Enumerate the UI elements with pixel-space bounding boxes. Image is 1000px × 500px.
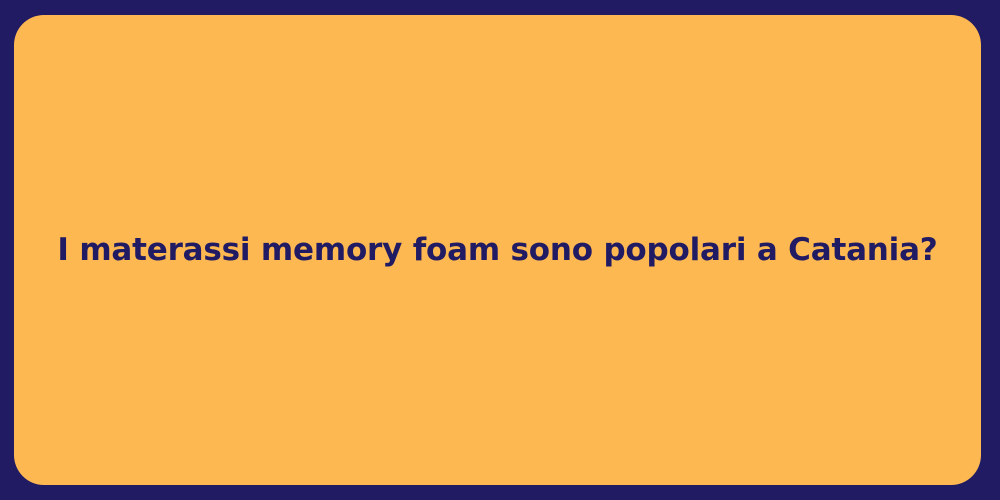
banner-card: I materassi memory foam sono popolari a … xyxy=(14,15,981,485)
banner-frame: I materassi memory foam sono popolari a … xyxy=(0,0,1000,500)
banner-headline: I materassi memory foam sono popolari a … xyxy=(33,231,961,270)
